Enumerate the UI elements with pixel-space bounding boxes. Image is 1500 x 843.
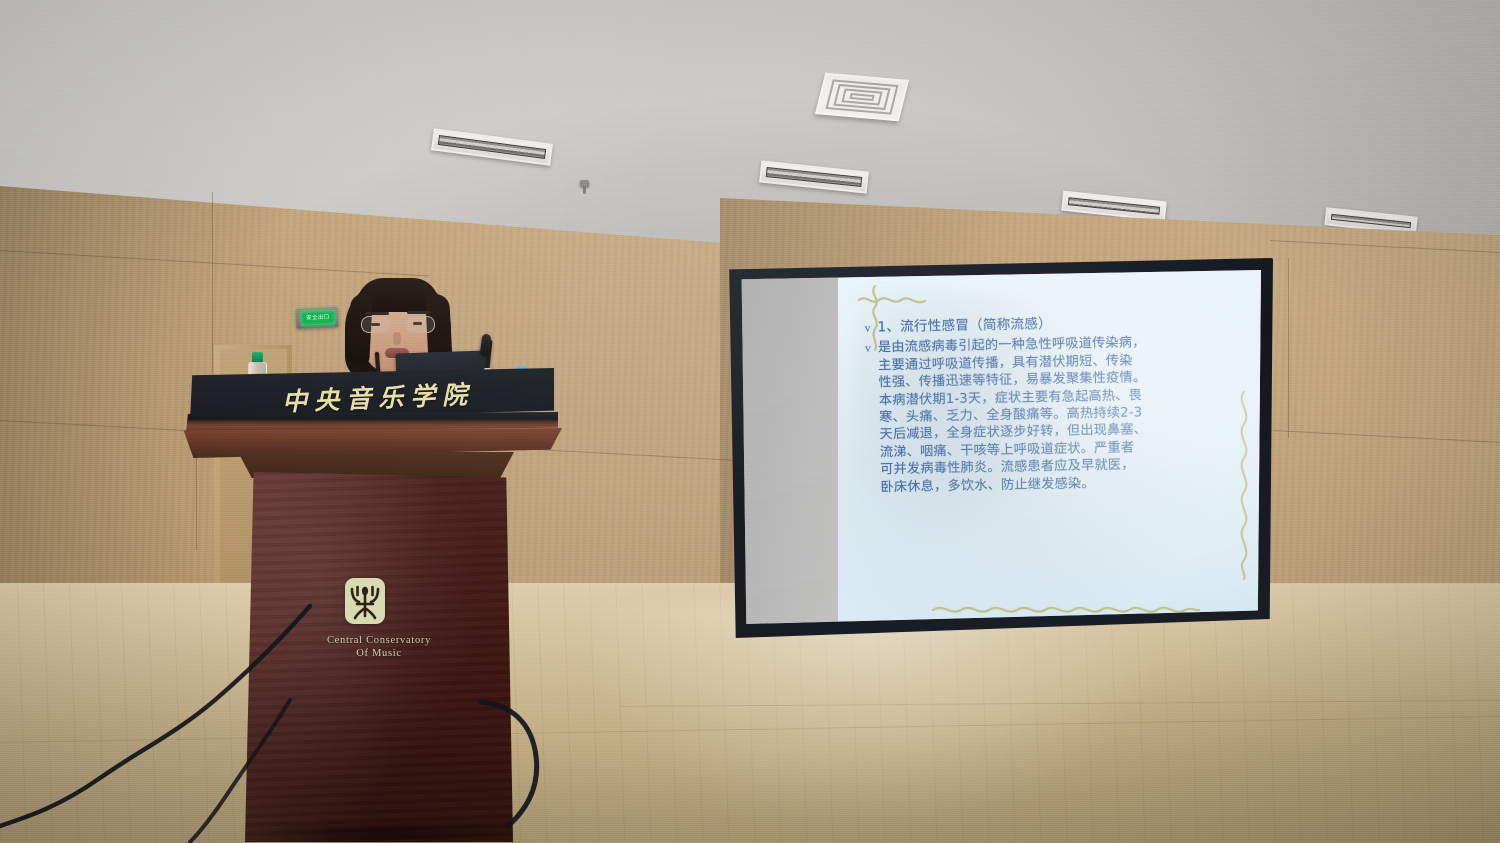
podium-english-line1: Central Conservatory (262, 634, 496, 647)
podium-english-line2: Of Music (262, 647, 496, 660)
slide-line-text: 卧床休息，多饮水、防止继发感染。 (880, 475, 1094, 497)
emergency-exit-sign: 安全出口 (296, 307, 339, 329)
projection-screen[interactable]: v 1、流行性感冒（简称流感） v 是由流感病毒引起的一种急性呼吸道传染病， v… (727, 258, 1273, 638)
ceiling-sprinkler-head (580, 180, 589, 187)
slide-text-body: v 1、流行性感冒（简称流感） v 是由流感病毒引起的一种急性呼吸道传染病， v… (864, 312, 1242, 496)
logo-emblem-icon (345, 578, 385, 624)
podium-english-label: Central Conservatory Of Music (262, 634, 496, 660)
wall-seam (212, 192, 213, 372)
slide-line-text: 1、流行性感冒（简称流感） (877, 316, 1052, 337)
screen-surface: v 1、流行性感冒（简称流感） v 是由流感病毒引起的一种急性呼吸道传染病， v… (739, 270, 1261, 624)
eyebrow-right (407, 311, 431, 314)
eyeglasses (359, 316, 439, 334)
ceiling-air-vent (815, 73, 909, 122)
conservatory-logo (345, 578, 385, 624)
eyebrow-left (365, 312, 389, 315)
glasses-bridge (391, 322, 405, 324)
nose (393, 332, 401, 345)
podium-shadow (250, 824, 520, 843)
lens-left (361, 316, 391, 333)
wall-seam (1288, 258, 1289, 438)
screen-unused-area (739, 270, 838, 624)
exit-sign-label: 安全出口 (306, 315, 330, 321)
lecture-hall-photo: 安全出口 (0, 0, 1500, 843)
slide-bullet: v (864, 340, 877, 358)
lens-right (405, 316, 435, 333)
slide-bullet: v (864, 319, 877, 337)
presentation-slide: v 1、流行性感冒（简称流感） v 是由流感病毒引起的一种急性呼吸道传染病， v… (838, 270, 1261, 624)
